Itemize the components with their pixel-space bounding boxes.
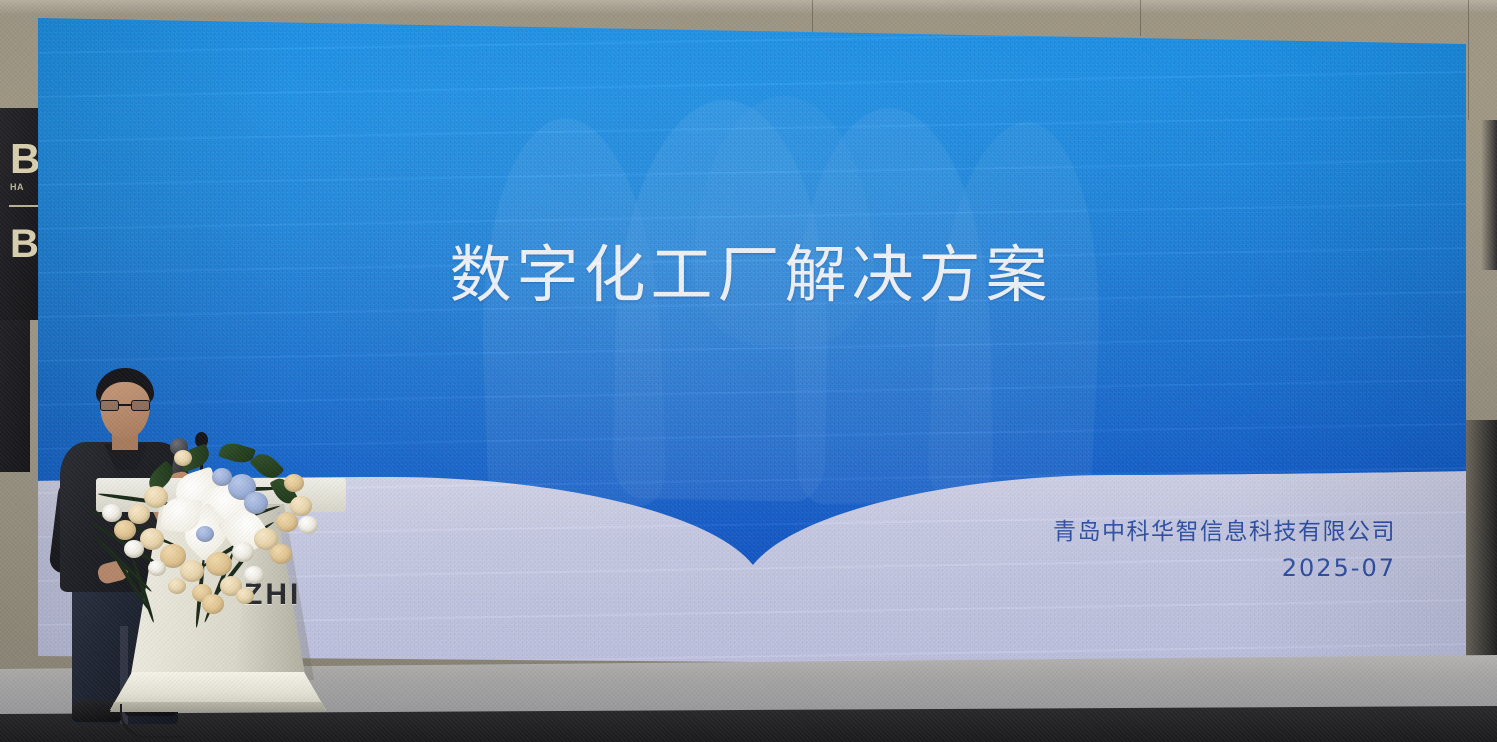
signage-letter-bottom: B [10,224,38,264]
wall-seam [1468,0,1469,120]
wall-shadow-right [1481,120,1497,270]
slide-footer: 青岛中科华智信息科技有限公司 2025-07 [1053,516,1396,585]
presentation-photo-scene: B HA B 数字化工厂解决方案 [0,0,1497,742]
glasses-icon [100,400,150,411]
signage-subtitle: HA [10,182,24,192]
venue-signage-lower [0,320,30,472]
signage-divider [9,205,39,207]
footer-date: 2025-07 [1053,551,1396,585]
ceiling-strip [0,0,1497,14]
wall-seam [1140,0,1141,36]
signage-letter-top: B [10,138,39,180]
flower-arrangement [84,442,364,632]
podium-cable [120,704,184,738]
footer-company-name: 青岛中科华智信息科技有限公司 [1053,516,1396,549]
slide-title: 数字化工厂解决方案 [34,244,1468,306]
